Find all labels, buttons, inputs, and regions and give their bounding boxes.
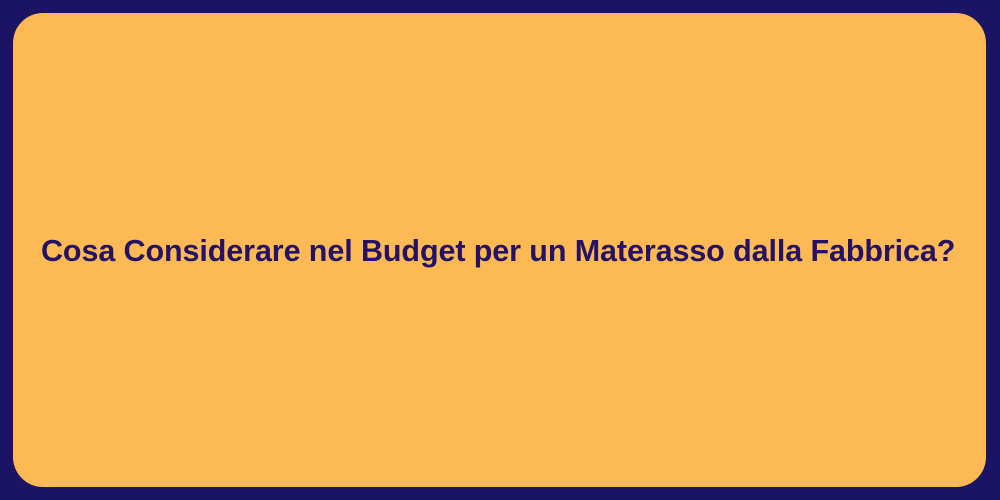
page-title: Cosa Considerare nel Budget per un Mater…	[41, 232, 955, 270]
banner-card: Cosa Considerare nel Budget per un Mater…	[13, 13, 986, 487]
banner-root: Cosa Considerare nel Budget per un Mater…	[0, 0, 1000, 500]
